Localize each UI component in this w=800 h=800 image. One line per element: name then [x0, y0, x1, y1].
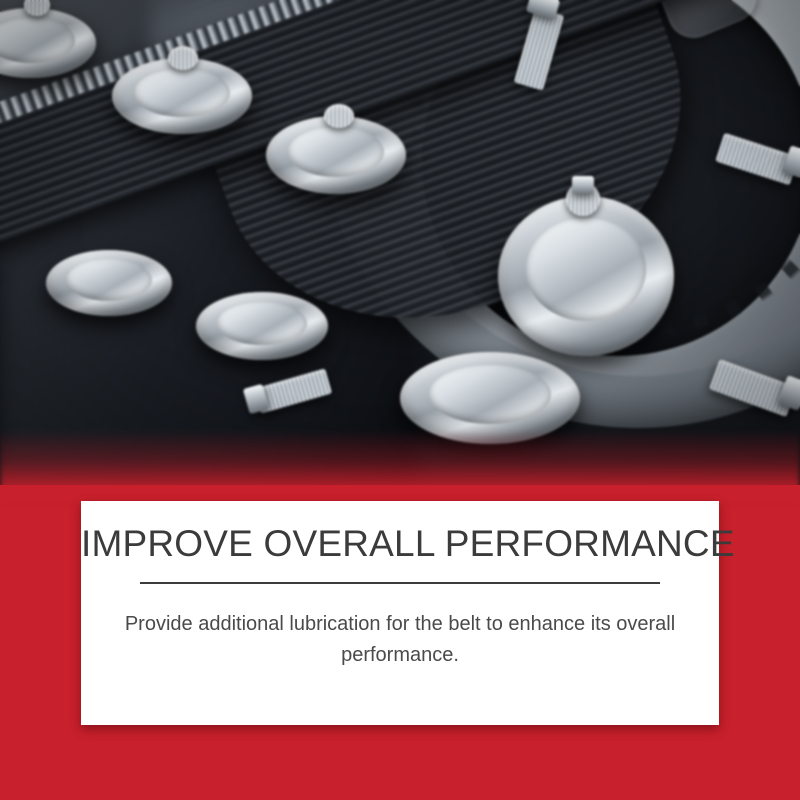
sprocket-pulley-main — [498, 196, 674, 356]
feature-card-title: IMPROVE OVERALL PERFORMANCE — [81, 523, 719, 565]
feature-card: IMPROVE OVERALL PERFORMANCE Provide addi… — [81, 501, 719, 725]
feature-card-divider — [140, 582, 660, 584]
sprocket-pulley-lower — [400, 352, 580, 444]
center-bolt-main — [572, 176, 594, 194]
feature-card-subtitle: Provide additional lubrication for the b… — [119, 609, 681, 671]
product-feature-banner: IMPROVE OVERALL PERFORMANCE Provide addi… — [0, 0, 800, 800]
pulley-hub-3 — [324, 104, 354, 128]
machinery-photo — [0, 0, 800, 520]
pulley-hub-2 — [168, 46, 198, 70]
sprocket-pulley-5 — [196, 292, 328, 360]
sprocket-pulley-4 — [46, 250, 172, 316]
